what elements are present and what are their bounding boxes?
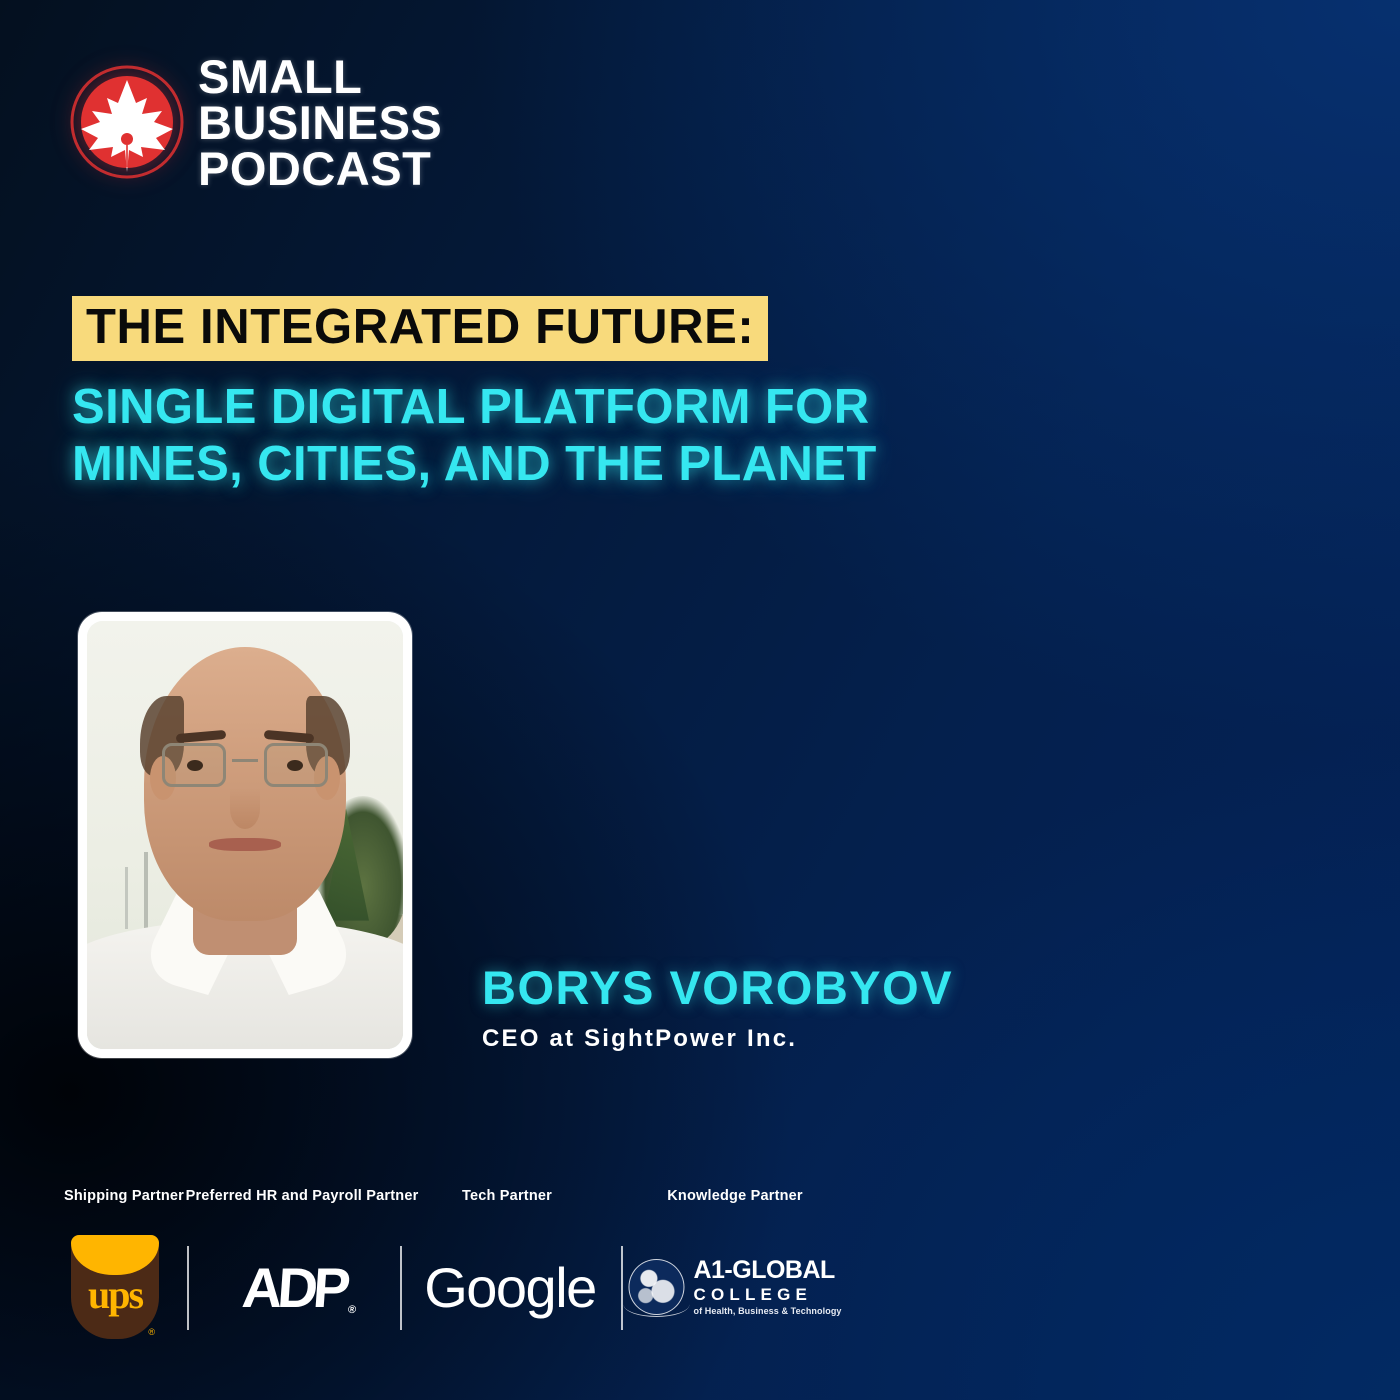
partner-logo-google[interactable]: Google (424, 1232, 596, 1342)
adp-registered-mark: ® (348, 1304, 357, 1316)
partner-label-hr: Preferred HR and Payroll Partner (186, 1188, 419, 1204)
title-highlight-line: THE INTEGRATED FUTURE: (72, 296, 768, 361)
partner-label-knowledge: Knowledge Partner (667, 1188, 803, 1204)
speaker-info: BORYS VOROBYOV CEO at SightPower Inc. (482, 963, 953, 1053)
a1-global-line-1: A1-GLOBAL (693, 1258, 841, 1283)
partner-divider-3 (621, 1246, 623, 1330)
title-line-3: MINES, CITIES, AND THE PLANET (72, 436, 1082, 493)
partner-label-shipping: Shipping Partner (64, 1188, 184, 1204)
adp-wordmark: ADP (240, 1256, 348, 1319)
ups-registered-mark: ® (148, 1327, 155, 1337)
title-subtitle: SINGLE DIGITAL PLATFORM FOR MINES, CITIE… (72, 379, 1082, 493)
title-line-2: SINGLE DIGITAL PLATFORM FOR (72, 379, 1082, 436)
partner-logos: ups ® ADP® Google (0, 1232, 1400, 1342)
partner-logo-adp[interactable]: ADP® (242, 1232, 357, 1342)
adp-wordmark-icon: ADP® (240, 1255, 360, 1320)
google-wordmark-icon: Google (424, 1255, 596, 1320)
partner-divider-2 (400, 1246, 402, 1330)
ups-wordmark: ups (71, 1275, 159, 1315)
partners-strip: Shipping Partner Preferred HR and Payrol… (0, 1188, 1400, 1342)
a1-global-line-2: COLLEGE (693, 1286, 841, 1303)
speaker-name: BORYS VOROBYOV (482, 963, 953, 1012)
brand-line-2: BUSINESS (198, 100, 442, 146)
partner-labels: Shipping Partner Preferred HR and Payrol… (0, 1188, 1400, 1214)
speaker-role: CEO at SightPower Inc. (482, 1025, 953, 1053)
brand-line-3: PODCAST (198, 146, 442, 192)
brand-logo: SMALL BUSINESS PODCAST (70, 52, 442, 192)
ups-shield-icon: ups ® (71, 1235, 159, 1339)
partner-label-tech: Tech Partner (462, 1188, 552, 1204)
episode-title: THE INTEGRATED FUTURE: SINGLE DIGITAL PL… (72, 296, 1082, 493)
partner-logo-ups[interactable]: ups ® (71, 1232, 159, 1342)
a1-global-line-3: of Health, Business & Technology (693, 1307, 841, 1316)
speaker-photo (87, 621, 403, 1049)
partner-logo-a1-global[interactable]: A1-GLOBAL COLLEGE of Health, Business & … (628, 1232, 841, 1342)
speaker-photo-frame (78, 612, 412, 1058)
brand-line-1: SMALL (198, 54, 442, 100)
eyeglasses-icon (156, 743, 334, 791)
a1-global-college-icon: A1-GLOBAL COLLEGE of Health, Business & … (628, 1258, 841, 1316)
partner-divider-1 (187, 1246, 189, 1330)
globe-icon (628, 1259, 684, 1315)
podcast-episode-graphic: SMALL BUSINESS PODCAST THE INTEGRATED FU… (0, 0, 1400, 1400)
maple-leaf-icon (70, 65, 184, 179)
